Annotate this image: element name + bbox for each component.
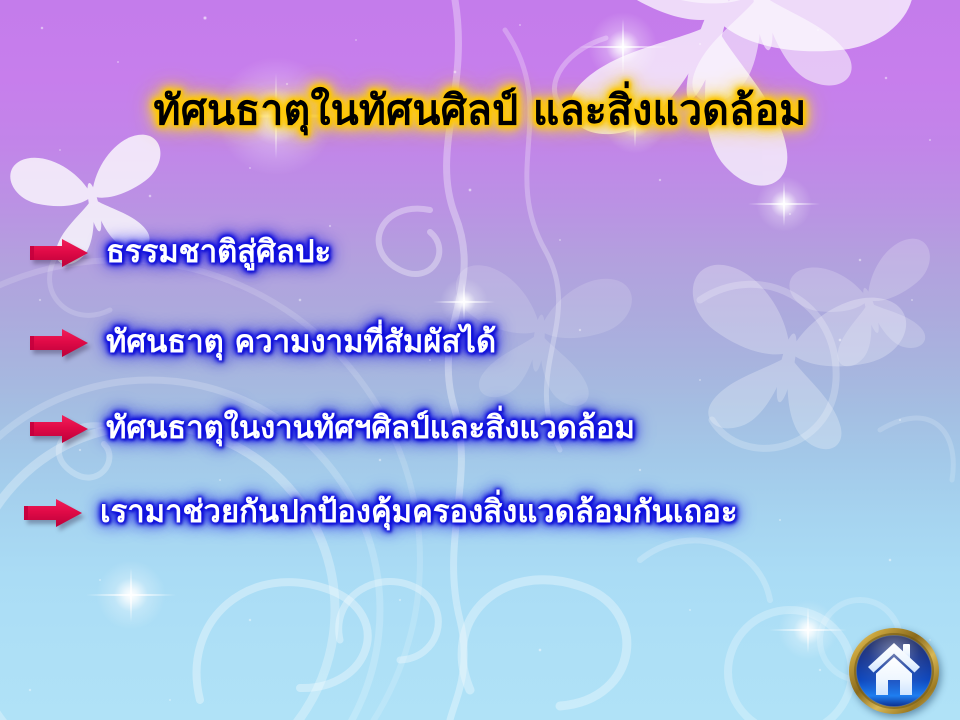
slide-title: ทัศนธาตุในทัศนศิลป์ และสิ่งแวดล้อม xyxy=(0,88,960,134)
list-item-label: ทัศนธาตุ ความงามที่สัมผัสได้ xyxy=(106,325,496,361)
starburst-glow xyxy=(588,12,658,82)
slide-canvas: ทัศนธาตุในทัศนศิลป์ และสิ่งแวดล้อม xyxy=(0,0,960,720)
red-arrow-icon xyxy=(28,328,90,358)
bullet-list: ธรรมชาติสู่ศิลปะ ทัศนธาตุ ความงามที่ xyxy=(0,222,960,570)
starburst-glow xyxy=(96,560,166,630)
list-item-label: ทัศนธาตุในงานทัศฯศิลป์และสิ่งแวดล้อม xyxy=(106,411,635,447)
red-arrow-icon xyxy=(28,414,90,444)
starburst-glow xyxy=(778,600,838,660)
list-item[interactable]: เรามาช่วยกันปกป้องคุ้มครองสิ่งแวดล้อมกัน… xyxy=(0,482,960,544)
red-arrow-icon xyxy=(28,238,90,268)
home-button[interactable] xyxy=(848,627,940,715)
slide-title-text: ทัศนธาตุในทัศนศิลป์ และสิ่งแวดล้อม xyxy=(154,88,807,134)
list-item[interactable]: ทัศนธาตุ ความงามที่สัมผัสได้ xyxy=(0,312,960,374)
list-item-label: ธรรมชาติสู่ศิลปะ xyxy=(106,235,331,271)
list-item[interactable]: ทัศนธาตุในงานทัศฯศิลป์และสิ่งแวดล้อม xyxy=(0,398,960,460)
list-item[interactable]: ธรรมชาติสู่ศิลปะ xyxy=(0,222,960,284)
red-arrow-icon xyxy=(22,498,84,528)
list-item-label: เรามาช่วยกันปกป้องคุ้มครองสิ่งแวดล้อมกัน… xyxy=(100,495,737,531)
